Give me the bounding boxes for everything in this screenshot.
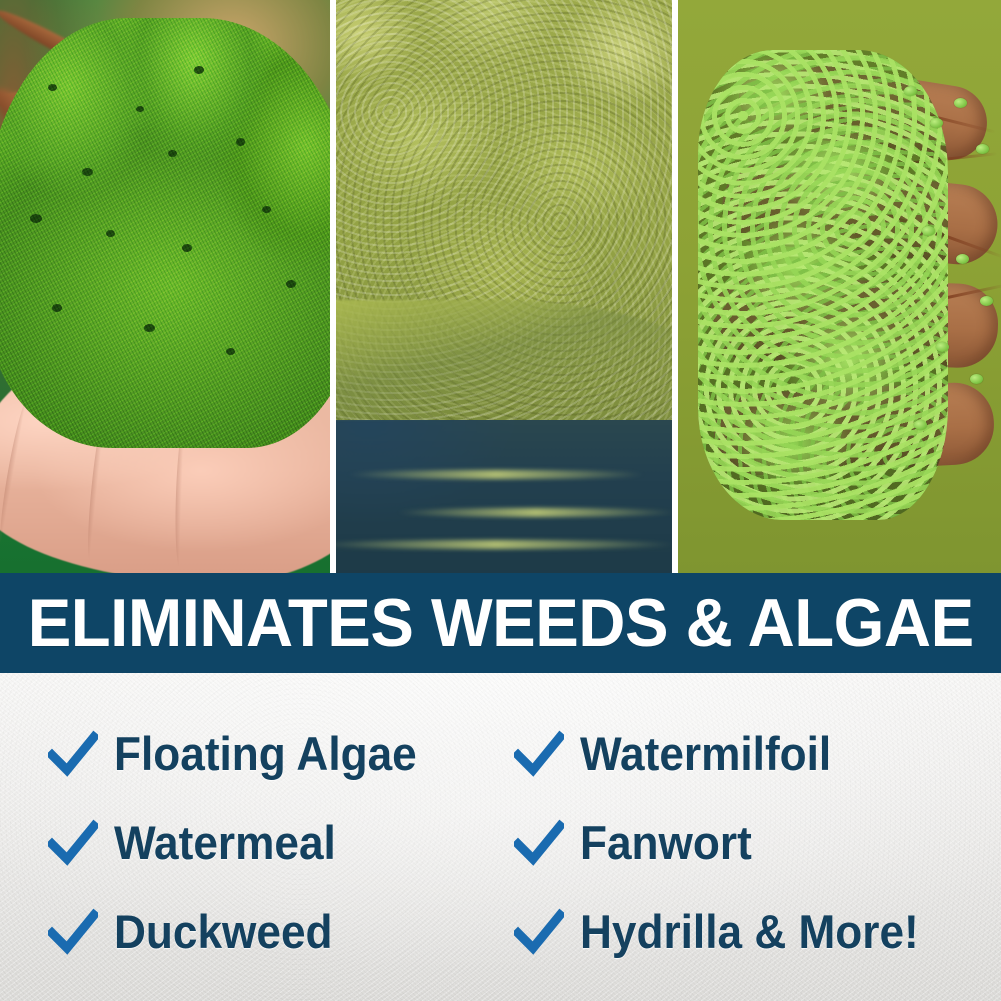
duckweed-leaf bbox=[956, 254, 969, 264]
check-icon bbox=[514, 729, 564, 779]
headline-banner: ELIMINATES WEEDS & ALGAE bbox=[0, 573, 1001, 673]
check-icon bbox=[48, 907, 98, 957]
duckweed-leaf bbox=[954, 98, 967, 108]
page-title: ELIMINATES WEEDS & ALGAE bbox=[28, 589, 974, 657]
watermeal-mass bbox=[0, 18, 330, 448]
duckweed-leaf bbox=[914, 420, 927, 430]
duckweed-leaf bbox=[976, 144, 989, 154]
weed-gap bbox=[144, 324, 155, 332]
duckweed-leaf bbox=[904, 86, 917, 96]
checklist-item-label: Fanwort bbox=[580, 819, 752, 866]
weed-gap bbox=[182, 244, 192, 252]
duckweed-leaf bbox=[936, 342, 949, 352]
checklist-item-label: Floating Algae bbox=[114, 730, 417, 777]
checklist-item-label: Watermeal bbox=[114, 819, 336, 866]
algae-swirl bbox=[396, 508, 672, 517]
weed-gap bbox=[262, 206, 271, 213]
weed-gap bbox=[106, 230, 115, 237]
check-icon bbox=[48, 729, 98, 779]
weed-gap bbox=[48, 84, 57, 91]
weed-gap bbox=[52, 304, 62, 312]
photo-strip bbox=[0, 0, 1001, 573]
duckweed-leaf bbox=[922, 226, 935, 236]
algae-mat-edge bbox=[336, 300, 672, 420]
photo-panel-duckweed-in-hand bbox=[678, 0, 1001, 573]
weed-gap bbox=[136, 106, 144, 112]
checklist-item-duckweed: Duckweed bbox=[0, 887, 500, 976]
checklist-item-floating-algae: Floating Algae bbox=[0, 709, 500, 798]
photo-panel-floating-algae bbox=[336, 0, 672, 573]
checklist-item-label: Watermilfoil bbox=[580, 730, 831, 777]
checklist-item-watermeal: Watermeal bbox=[0, 798, 500, 887]
duckweed-leaf bbox=[980, 296, 993, 306]
check-icon bbox=[48, 818, 98, 868]
weed-gap bbox=[226, 348, 235, 355]
weed-gap bbox=[286, 280, 296, 288]
weed-gap bbox=[236, 138, 245, 146]
weed-gap bbox=[194, 66, 204, 74]
features-checklist: Floating Algae Watermilfoil Watermeal Fa… bbox=[0, 673, 1001, 1001]
duckweed-leaf bbox=[930, 118, 943, 128]
duckweed-clump bbox=[698, 50, 948, 520]
duckweed-leaf bbox=[970, 374, 983, 384]
checklist-grid: Floating Algae Watermilfoil Watermeal Fa… bbox=[0, 673, 1001, 976]
checklist-item-hydrilla-and-more: Hydrilla & More! bbox=[500, 887, 1001, 976]
check-icon bbox=[514, 818, 564, 868]
algae-swirl bbox=[346, 470, 646, 479]
product-feature-graphic: ELIMINATES WEEDS & ALGAE Floating Algae … bbox=[0, 0, 1001, 1001]
checklist-item-fanwort: Fanwort bbox=[500, 798, 1001, 887]
hand-shape bbox=[708, 40, 1001, 510]
weed-gap bbox=[82, 168, 93, 176]
photo-panel-watermeal-in-hand bbox=[0, 0, 330, 573]
weed-gap bbox=[30, 214, 42, 223]
check-icon bbox=[514, 907, 564, 957]
checklist-item-label: Hydrilla & More! bbox=[580, 908, 919, 955]
weed-gap bbox=[168, 150, 177, 157]
checklist-item-watermilfoil: Watermilfoil bbox=[500, 709, 1001, 798]
checklist-item-label: Duckweed bbox=[114, 908, 333, 955]
algae-swirl bbox=[336, 540, 672, 549]
